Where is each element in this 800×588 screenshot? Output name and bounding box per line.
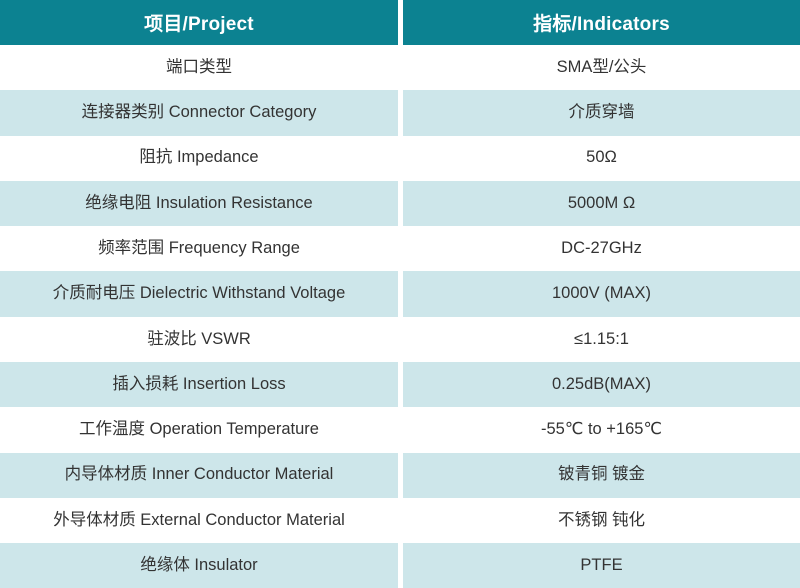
column-header-indicators: 指标/Indicators bbox=[403, 0, 800, 45]
table-row: 工作温度 Operation Temperature-55℃ to +165℃ bbox=[0, 407, 800, 452]
cell-project: 插入损耗 Insertion Loss bbox=[0, 362, 398, 407]
specification-table: 项目/Project 指标/Indicators 端口类型SMA型/公头连接器类… bbox=[0, 0, 800, 588]
cell-project: 连接器类别 Connector Category bbox=[0, 90, 398, 135]
table-row: 阻抗 Impedance50Ω bbox=[0, 136, 800, 181]
column-header-project: 项目/Project bbox=[0, 0, 398, 45]
cell-project: 绝缘电阻 Insulation Resistance bbox=[0, 181, 398, 226]
cell-indicator: 0.25dB(MAX) bbox=[403, 362, 800, 407]
table-row: 驻波比 VSWR≤1.15:1 bbox=[0, 317, 800, 362]
cell-indicator: -55℃ to +165℃ bbox=[403, 407, 800, 452]
cell-indicator: 50Ω bbox=[403, 136, 800, 181]
cell-indicator: SMA型/公头 bbox=[403, 45, 800, 90]
cell-indicator: PTFE bbox=[403, 543, 800, 588]
cell-indicator: DC-27GHz bbox=[403, 226, 800, 271]
cell-indicator: 介质穿墙 bbox=[403, 90, 800, 135]
table-row: 内导体材质 Inner Conductor Material铍青铜 镀金 bbox=[0, 453, 800, 498]
cell-project: 驻波比 VSWR bbox=[0, 317, 398, 362]
cell-indicator: 5000M Ω bbox=[403, 181, 800, 226]
table-row: 绝缘体 InsulatorPTFE bbox=[0, 543, 800, 588]
cell-project: 端口类型 bbox=[0, 45, 398, 90]
cell-project: 频率范围 Frequency Range bbox=[0, 226, 398, 271]
cell-project: 外导体材质 External Conductor Material bbox=[0, 498, 398, 543]
cell-project: 绝缘体 Insulator bbox=[0, 543, 398, 588]
cell-indicator: 不锈钢 钝化 bbox=[403, 498, 800, 543]
cell-indicator: ≤1.15:1 bbox=[403, 317, 800, 362]
table-body: 端口类型SMA型/公头连接器类别 Connector Category介质穿墙阻… bbox=[0, 45, 800, 588]
table-row: 连接器类别 Connector Category介质穿墙 bbox=[0, 90, 800, 135]
table-row: 频率范围 Frequency RangeDC-27GHz bbox=[0, 226, 800, 271]
cell-project: 阻抗 Impedance bbox=[0, 136, 398, 181]
table-row: 介质耐电压 Dielectric Withstand Voltage1000V … bbox=[0, 271, 800, 316]
table-header-row: 项目/Project 指标/Indicators bbox=[0, 0, 800, 45]
cell-project: 工作温度 Operation Temperature bbox=[0, 407, 398, 452]
table-row: 外导体材质 External Conductor Material不锈钢 钝化 bbox=[0, 498, 800, 543]
cell-project: 内导体材质 Inner Conductor Material bbox=[0, 453, 398, 498]
table-row: 插入损耗 Insertion Loss0.25dB(MAX) bbox=[0, 362, 800, 407]
cell-indicator: 铍青铜 镀金 bbox=[403, 453, 800, 498]
table-row: 端口类型SMA型/公头 bbox=[0, 45, 800, 90]
cell-project: 介质耐电压 Dielectric Withstand Voltage bbox=[0, 271, 398, 316]
table-row: 绝缘电阻 Insulation Resistance5000M Ω bbox=[0, 181, 800, 226]
cell-indicator: 1000V (MAX) bbox=[403, 271, 800, 316]
